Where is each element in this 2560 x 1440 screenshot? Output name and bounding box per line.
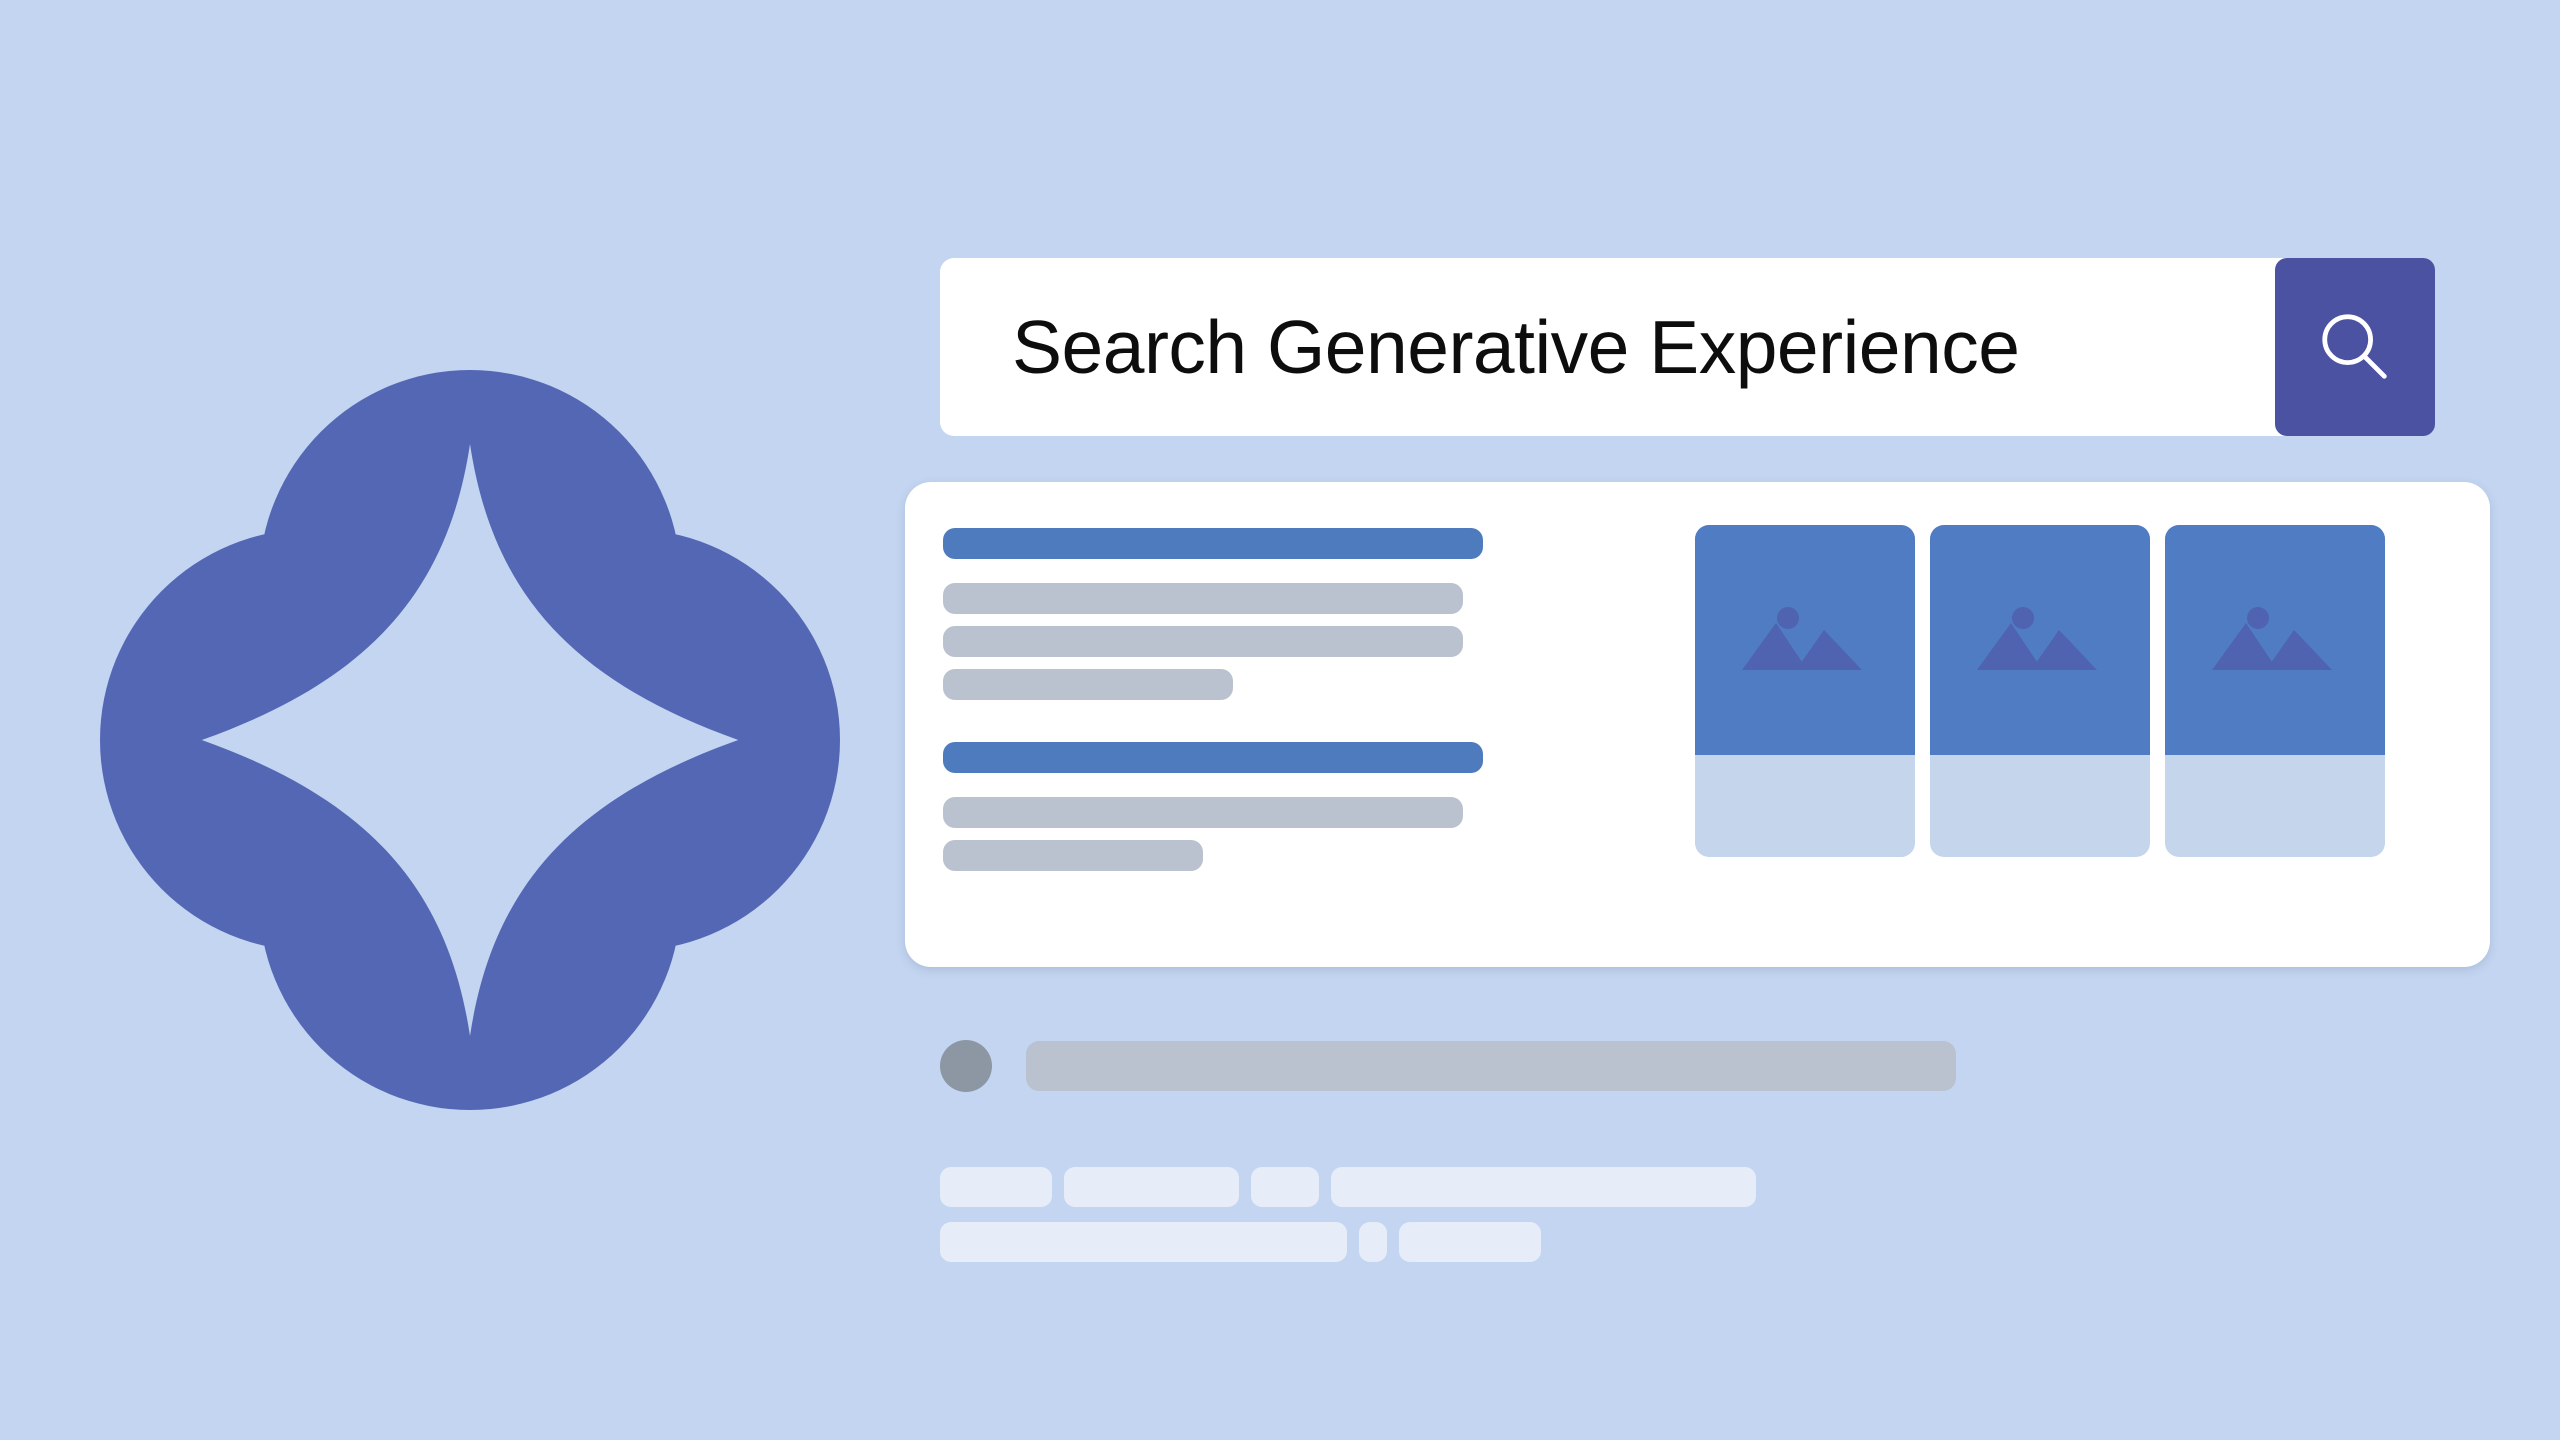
result-text-placeholder-2 (943, 626, 1463, 657)
result-skeleton-list (943, 528, 1643, 871)
result-text-placeholder-1 (943, 583, 1463, 614)
message-text-placeholder (1026, 1041, 1956, 1091)
search-icon (2311, 303, 2399, 391)
logo-petals (100, 370, 840, 1110)
image-thumbnail-3[interactable] (2165, 525, 2385, 857)
image-thumbnail-strip (1695, 525, 2385, 857)
thumbnail-image-area (1930, 525, 2150, 755)
sparkle-quatrefoil-logo (100, 370, 840, 1110)
spacer (943, 773, 1643, 797)
result-text-placeholder-4 (943, 797, 1463, 828)
suggestion-chip[interactable] (1331, 1167, 1756, 1207)
image-thumbnail-1[interactable] (1695, 525, 1915, 857)
suggestion-chip[interactable] (1064, 1167, 1239, 1207)
user-avatar (940, 1040, 992, 1092)
search-input[interactable]: Search Generative Experience (940, 258, 2300, 436)
spacer (943, 700, 1643, 742)
spacer (943, 559, 1643, 583)
search-submit-button[interactable] (2275, 258, 2435, 436)
search-bar: Search Generative Experience (940, 258, 2435, 436)
illustration-canvas: Search Generative Experience (0, 0, 2560, 1440)
image-thumbnail-2[interactable] (1930, 525, 2150, 857)
search-results-card (905, 482, 2490, 967)
suggestion-chip[interactable] (940, 1222, 1347, 1262)
spacer (943, 828, 1643, 840)
suggestion-chip[interactable] (940, 1167, 1052, 1207)
suggestion-row-1 (940, 1167, 1756, 1207)
conversation-message-row (940, 1040, 1956, 1092)
suggestion-row-2 (940, 1222, 1541, 1262)
spacer (943, 657, 1643, 669)
result-text-placeholder-3 (943, 669, 1233, 700)
result-title-placeholder-2 (943, 742, 1483, 773)
thumbnail-image-area (2165, 525, 2385, 755)
result-text-placeholder-5 (943, 840, 1203, 871)
search-input-value: Search Generative Experience (1012, 310, 2019, 385)
thumbnail-image-area (1695, 525, 1915, 755)
result-title-placeholder-1 (943, 528, 1483, 559)
suggestion-chip[interactable] (1359, 1222, 1387, 1262)
suggestion-chip[interactable] (1399, 1222, 1541, 1262)
suggestion-chip[interactable] (1251, 1167, 1319, 1207)
spacer (943, 614, 1643, 626)
conversation-skeleton (940, 1040, 2340, 1270)
